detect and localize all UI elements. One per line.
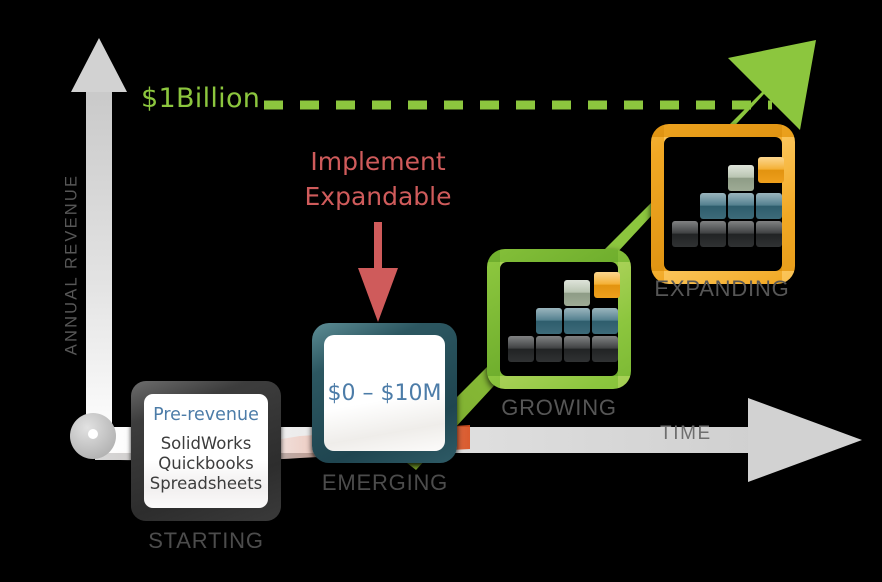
callout-down-arrow <box>358 222 398 322</box>
logo-block-bottom-3 <box>728 221 754 247</box>
emerging-revenue-value: $0 – $10M <box>328 381 442 406</box>
logo-block-bottom-3 <box>564 336 590 362</box>
logo-block-bottom-4 <box>756 221 782 247</box>
staircase-blocks-logo-growing <box>508 270 608 368</box>
logo-block-middle-1 <box>700 193 726 219</box>
logo-block-middle-2 <box>728 193 754 219</box>
logo-block-bottom-1 <box>672 221 698 247</box>
starting-item-quickbooks: Quickbooks <box>158 454 253 474</box>
logo-block-top-sage <box>564 280 590 306</box>
stage-caption-emerging: EMERGING <box>285 470 485 496</box>
logo-block-bottom-2 <box>700 221 726 247</box>
starting-item-spreadsheets: Spreadsheets <box>150 474 263 494</box>
starting-item-solidworks: SolidWorks <box>161 434 252 454</box>
stage-card-emerging[interactable]: $0 – $10M <box>312 323 457 463</box>
logo-block-middle-3 <box>756 193 782 219</box>
origin-circle <box>70 413 116 459</box>
stage-card-emerging-face: $0 – $10M <box>324 335 445 451</box>
logo-block-top-orange <box>594 272 620 298</box>
stage-caption-growing: GROWING <box>459 395 659 421</box>
stage-caption-expanding: EXPANDING <box>622 276 822 302</box>
growing-frame-interior <box>500 262 618 376</box>
logo-block-middle-2 <box>564 308 590 334</box>
logo-block-bottom-1 <box>508 336 534 362</box>
stage-caption-starting: STARTING <box>106 528 306 554</box>
diagram-canvas: ANNUAL REVENUE TIME $1Billion Implement … <box>0 0 882 582</box>
logo-block-top-sage <box>728 165 754 191</box>
callout-line-2: Expandable <box>238 182 518 211</box>
x-axis-label: TIME <box>660 423 712 445</box>
logo-block-middle-3 <box>592 308 618 334</box>
expanding-frame-interior <box>664 137 782 271</box>
staircase-blocks-logo-expanding <box>672 155 772 253</box>
stage-frame-expanding[interactable] <box>651 124 795 284</box>
logo-block-top-orange <box>758 157 784 183</box>
starting-card-title: Pre-revenue <box>153 405 259 425</box>
logo-block-bottom-4 <box>592 336 618 362</box>
y-axis-label: ANNUAL REVENUE <box>63 170 82 360</box>
stage-card-starting-face: Pre-revenue SolidWorks Quickbooks Spread… <box>144 394 268 508</box>
billion-threshold-label: $1Billion <box>141 83 260 114</box>
callout-line-1: Implement <box>238 147 518 176</box>
stage-card-starting[interactable]: Pre-revenue SolidWorks Quickbooks Spread… <box>131 381 281 521</box>
stage-frame-growing[interactable] <box>487 249 631 389</box>
logo-block-middle-1 <box>536 308 562 334</box>
logo-block-bottom-2 <box>536 336 562 362</box>
